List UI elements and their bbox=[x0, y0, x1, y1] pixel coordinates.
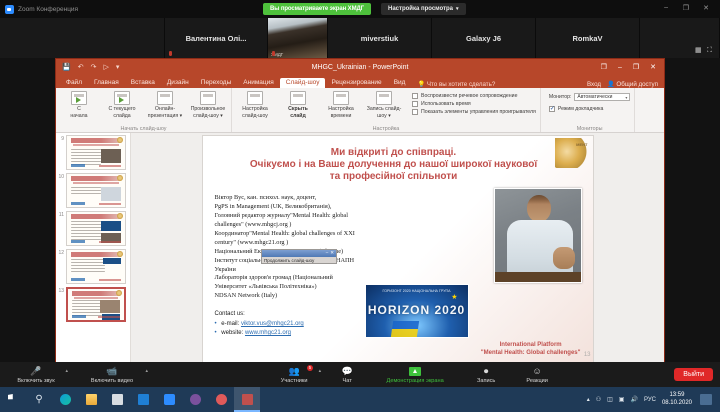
bio-line: Віктор Вус, кан. психол. наук, доцент, bbox=[215, 194, 425, 203]
save-icon[interactable]: 💾 bbox=[62, 64, 71, 71]
control-label: Реакции bbox=[526, 378, 548, 384]
clock-time: 13:59 bbox=[662, 392, 692, 400]
thumbnail-row[interactable]: 11 bbox=[58, 211, 128, 246]
btn-line1: Произвольное bbox=[191, 106, 226, 112]
timer-icon bbox=[333, 91, 349, 105]
powerpoint-title-bar: 💾 ↶ ↷ ▷ ▾ MHGC_Ukrainian - PowerPoint ❐ … bbox=[56, 59, 664, 75]
checkbox-icon bbox=[549, 106, 555, 112]
chevron-down-icon: ▾ bbox=[456, 6, 459, 12]
ribbon-group-label: Начать слайд-шоу bbox=[121, 126, 167, 133]
bio-line: України bbox=[215, 266, 425, 275]
share-screen-icon bbox=[409, 366, 421, 377]
powerpoint-body: 9 10 11 bbox=[56, 133, 664, 367]
sign-in-button[interactable]: Вход bbox=[587, 81, 601, 88]
btn-line1: Настройка bbox=[328, 106, 354, 112]
leave-meeting-button[interactable]: Выйти bbox=[674, 368, 713, 381]
ribbon: Сначала С текущегослайда Онлайн-презента… bbox=[56, 88, 664, 133]
slide-thumbnail[interactable] bbox=[66, 249, 126, 284]
btn-line1: Скрыть bbox=[288, 106, 308, 112]
bio-line: Координатор"Mental Health: global challe… bbox=[215, 230, 425, 239]
participant-name: RomkaV bbox=[572, 34, 602, 43]
bio-line: PgPS in Management (UK, Великобританія), bbox=[215, 203, 425, 212]
mic-off-icon: 🎤 bbox=[30, 366, 41, 377]
record-slideshow-button[interactable]: Запись слайд-шоу ▾ bbox=[365, 91, 403, 119]
participant-filmstrip: Валентина Олі... ХМДГ miverstiuk Galaxy … bbox=[0, 18, 720, 58]
volume-icon[interactable]: 🔊 bbox=[630, 396, 637, 403]
contact-label: e-mail: bbox=[221, 321, 239, 327]
thumbnail-number: 11 bbox=[58, 211, 66, 218]
participant-tile[interactable]: miverstiuk bbox=[328, 18, 432, 58]
tab-file[interactable]: Файл bbox=[60, 78, 88, 88]
from-current-slide-button[interactable]: С текущегослайда bbox=[103, 91, 141, 119]
participant-tile[interactable]: RomkaV bbox=[536, 18, 640, 58]
zoom-control-bar: 🎤 Включить звук ▴ 📹 Включить видео ▴ 👥 У… bbox=[0, 362, 720, 387]
people-icon: 👥 bbox=[289, 366, 300, 377]
customize-toolbar-icon[interactable]: ▾ bbox=[116, 64, 120, 71]
tab-animations[interactable]: Анимация bbox=[237, 78, 280, 88]
thumbnail-number: 9 bbox=[58, 135, 66, 142]
checkbox-label: Показать элементы управления проигрывате… bbox=[421, 109, 536, 115]
horizon-2020-image: ГОРИЗОНТ 2020 НАЦІОНАЛЬНА ГРУПА HORIZON … bbox=[365, 284, 469, 338]
reactions-icon: ☺ bbox=[533, 366, 542, 377]
email-link[interactable]: viktor.vus@mhgc21.org bbox=[241, 321, 304, 327]
viber-icon[interactable] bbox=[182, 387, 208, 412]
redo-icon[interactable]: ↷ bbox=[91, 64, 97, 71]
slide-canvas-area: MENT Ми відкриті до співпраці. Очікуємо … bbox=[131, 133, 664, 367]
star-icon: ★ bbox=[451, 293, 457, 301]
tell-me-label: Что вы хотите сделать? bbox=[427, 81, 495, 88]
slide-thumbnail[interactable] bbox=[66, 173, 126, 208]
zoom-top-bar: Zoom Конференция Вы просматриваете экран… bbox=[0, 0, 720, 18]
btn-line1: Запись слайд- bbox=[367, 106, 402, 112]
fullscreen-icon[interactable]: ⛶ bbox=[707, 47, 715, 55]
system-tray: ▴ ⚇ ◫ ▣ 🔊 РУС 13:59 08.10.2020 bbox=[587, 392, 720, 407]
emblem-text: MENT bbox=[576, 143, 587, 147]
record-icon: ⏺ bbox=[484, 366, 489, 377]
setup-slideshow-icon bbox=[247, 91, 263, 105]
slide-title: Ми відкриті до співпраці. Очікуємо і на … bbox=[223, 147, 565, 184]
footer-line1: International Platform bbox=[481, 342, 581, 350]
footer-line2: "Mental Health: Global challenges" bbox=[481, 350, 581, 358]
resume-slideshow-toolbar[interactable]: – ✕ Продолжить слайд-шоу bbox=[261, 249, 337, 264]
tab-design[interactable]: Дизайн bbox=[161, 78, 195, 88]
powerpoint-window-buttons: ❐ – ❐ ✕ bbox=[601, 63, 664, 71]
usb-icon[interactable]: ⚇ bbox=[596, 396, 601, 403]
toolbar-body[interactable]: Продолжить слайд-шоу bbox=[262, 257, 336, 263]
participant-name: Galaxy J6 bbox=[466, 34, 501, 43]
slide-title-line2: Очікуємо і на Ваше долучення до нашої ши… bbox=[223, 159, 565, 171]
restore-icon[interactable]: ❐ bbox=[633, 63, 639, 71]
checkbox-label: Воспроизвести речевое сопровождение bbox=[421, 93, 517, 99]
clock[interactable]: 13:59 08.10.2020 bbox=[662, 392, 692, 407]
monitor-label: Монитор: bbox=[549, 94, 572, 100]
thumbnail-row[interactable]: 10 bbox=[58, 173, 128, 208]
resume-slideshow-label: Продолжить слайд-шоу bbox=[264, 258, 314, 263]
participant-tile[interactable]: Валентина Олі... bbox=[165, 18, 268, 58]
start-video-button[interactable]: 📹 Включить видео ▴ bbox=[72, 366, 152, 384]
control-label: Запись bbox=[477, 378, 495, 384]
show-media-controls-checkbox[interactable]: Показать элементы управления проигрывате… bbox=[412, 109, 536, 115]
horizon-main-text: HORIZON 2020 bbox=[366, 303, 468, 317]
control-label: Демонстрация экрана bbox=[387, 378, 444, 384]
gallery-view-icon[interactable]: ▦ bbox=[695, 47, 703, 55]
slide-title-line1: Ми відкриті до співпраці. bbox=[223, 147, 565, 159]
start-icon[interactable] bbox=[0, 387, 26, 412]
btn-line2: времени bbox=[331, 113, 352, 119]
slide-number: 13 bbox=[584, 352, 591, 358]
video-off-icon: 📹 bbox=[106, 366, 117, 377]
btn-line2: слайд-шоу ▾ bbox=[193, 113, 223, 119]
toolbar-title-bar: – ✕ bbox=[262, 250, 336, 257]
btn-line2: начала bbox=[70, 113, 87, 119]
participant-tile-empty-right[interactable]: ▦ ⛶ bbox=[640, 18, 720, 58]
presenter-photo bbox=[494, 188, 582, 283]
control-label: Чат bbox=[343, 378, 352, 384]
bio-line: challenges" (www.mhgcj.org ) bbox=[215, 221, 425, 230]
view-options-label: Настройка просмотра bbox=[388, 6, 453, 12]
account-area: Вход 👤 Общий доступ bbox=[587, 80, 664, 88]
checkbox-icon bbox=[412, 109, 418, 115]
search-icon[interactable]: ⚲ bbox=[26, 387, 52, 412]
quick-access-toolbar: 💾 ↶ ↷ ▷ ▾ bbox=[56, 64, 119, 71]
use-timings-checkbox[interactable]: Использовать время bbox=[412, 101, 536, 107]
control-label: Включить видео bbox=[91, 378, 133, 384]
maximize-icon[interactable]: ❐ bbox=[683, 4, 689, 12]
explorer-icon[interactable] bbox=[78, 387, 104, 412]
slide-title-line3: та професійної спільноти bbox=[223, 171, 565, 183]
ribbon-display-options-icon[interactable]: ❐ bbox=[601, 63, 607, 71]
share-screen-button[interactable]: Демонстрация экрана bbox=[369, 366, 461, 384]
show-hidden-icons[interactable]: ▴ bbox=[587, 396, 590, 403]
participant-tile[interactable]: Galaxy J6 bbox=[432, 18, 536, 58]
monitor-select-row[interactable]: Монитор: Автоматически bbox=[549, 93, 631, 101]
filmstrip-view-controls: ▦ ⛶ bbox=[695, 47, 715, 55]
checkbox-icon bbox=[412, 93, 418, 99]
participants-count-badge: 5 bbox=[307, 365, 314, 371]
slide-thumbnail-selected[interactable] bbox=[66, 287, 126, 322]
tab-slideshow[interactable]: Слайд-шоу bbox=[280, 78, 326, 88]
network-icon[interactable]: ◫ bbox=[607, 396, 613, 403]
minimize-icon[interactable]: – bbox=[664, 4, 668, 11]
btn-line2: презентация ▾ bbox=[148, 113, 182, 119]
website-link[interactable]: www.mhgc21.org bbox=[245, 330, 291, 336]
language-indicator[interactable]: РУС bbox=[644, 397, 656, 403]
ribbon-group-monitors: Монитор: Автоматически Режим докладчика … bbox=[541, 88, 636, 133]
slide-thumbnail[interactable] bbox=[66, 135, 126, 170]
thumbnail-number: 13 bbox=[58, 287, 66, 294]
setup-slideshow-button[interactable]: Настройкаслайд-шоу bbox=[236, 91, 274, 119]
ribbon-tab-bar: Файл Главная Вставка Дизайн Переходы Ани… bbox=[56, 75, 664, 88]
participants-button[interactable]: 👥 Участники 5 ▴ bbox=[263, 366, 325, 384]
checkbox-label: Режим докладчика bbox=[558, 106, 603, 112]
record-button[interactable]: ⏺ Запись bbox=[461, 366, 511, 384]
chat-icon: 💬 bbox=[342, 366, 353, 377]
reactions-button[interactable]: ☺ Реакции bbox=[511, 366, 563, 384]
presenter-mode-checkbox[interactable]: Режим докладчика bbox=[549, 106, 603, 112]
slide-thumbnail[interactable] bbox=[66, 211, 126, 246]
btn-line2: шоу ▾ bbox=[377, 113, 391, 119]
undo-icon[interactable]: ↶ bbox=[78, 64, 84, 71]
chevron-up-icon[interactable]: ▴ bbox=[319, 368, 322, 374]
tab-view[interactable]: Вид bbox=[388, 78, 412, 88]
from-beginning-button[interactable]: Сначала bbox=[60, 91, 98, 119]
rehearse-timings-button[interactable]: Настройкавремени bbox=[322, 91, 360, 119]
powerpoint-icon[interactable] bbox=[234, 387, 260, 412]
ribbon-group-label: Мониторы bbox=[577, 126, 603, 133]
hide-slide-button[interactable]: Скрытьслайд bbox=[279, 91, 317, 119]
control-label: Участники bbox=[281, 378, 308, 384]
thumbnail-number: 10 bbox=[58, 173, 66, 180]
play-from-start-icon bbox=[71, 91, 87, 105]
btn-line2: слайда bbox=[113, 113, 130, 119]
play-from-current-icon bbox=[114, 91, 130, 105]
powerpoint-window: 💾 ↶ ↷ ▷ ▾ MHGC_Ukrainian - PowerPoint ❐ … bbox=[55, 58, 665, 368]
document-title: MHGC_Ukrainian - PowerPoint bbox=[56, 64, 664, 71]
btn-line1: С текущего bbox=[108, 106, 135, 112]
monitor-select[interactable]: Автоматически bbox=[574, 93, 630, 101]
thumbnail-number: 12 bbox=[58, 249, 66, 256]
mic-muted-icon bbox=[272, 51, 275, 56]
share-button[interactable]: 👤 Общий доступ bbox=[607, 80, 658, 88]
thumbnail-row[interactable]: 9 bbox=[58, 135, 128, 170]
windows-taskbar: ⚲ ▴ ⚇ ◫ ▣ 🔊 РУС 13:59 08.10.2020 bbox=[0, 387, 720, 412]
ribbon-group-setup: Настройкаслайд-шоу Скрытьслайд Настройка… bbox=[232, 88, 541, 133]
thumbnail-row[interactable]: 12 bbox=[58, 249, 128, 284]
edge-icon[interactable] bbox=[52, 387, 78, 412]
screen-share-banner: Вы просматриваете экран ХМДГ bbox=[263, 3, 371, 15]
hide-slide-icon bbox=[290, 91, 306, 105]
start-slideshow-icon[interactable]: ▷ bbox=[103, 64, 108, 71]
tab-transitions[interactable]: Переходы bbox=[195, 78, 238, 88]
zoom-logo-icon bbox=[5, 5, 14, 14]
zoom-window-title: Zoom Конференция bbox=[18, 6, 78, 13]
participant-name: miverstiuk bbox=[361, 34, 399, 43]
participant-tile-empty-left[interactable] bbox=[0, 18, 165, 58]
clock-date: 08.10.2020 bbox=[662, 400, 692, 408]
lightbulb-icon: 💡 bbox=[417, 81, 425, 88]
record-icon bbox=[376, 91, 392, 105]
skype-icon[interactable] bbox=[208, 387, 234, 412]
tab-review[interactable]: Рецензирование bbox=[325, 78, 387, 88]
slide-thumbnail-pane[interactable]: 9 10 11 bbox=[56, 133, 131, 367]
minimize-icon[interactable]: – bbox=[326, 251, 329, 256]
close-icon[interactable]: ✕ bbox=[703, 4, 709, 12]
mic-muted-icon bbox=[169, 51, 172, 56]
btn-line1: Настройка bbox=[242, 106, 268, 112]
participant-tile-video[interactable]: ХМДГ bbox=[268, 18, 328, 58]
tab-home[interactable]: Главная bbox=[88, 78, 125, 88]
tab-insert[interactable]: Вставка bbox=[125, 78, 161, 88]
custom-slideshow-icon bbox=[200, 91, 216, 105]
screen-root: Zoom Конференция Вы просматриваете экран… bbox=[0, 0, 720, 412]
btn-line1: С bbox=[77, 106, 81, 112]
contact-label: website: bbox=[221, 330, 243, 336]
chevron-up-icon[interactable]: ▴ bbox=[145, 368, 148, 374]
close-icon[interactable]: ✕ bbox=[650, 63, 656, 71]
display-icon[interactable]: ▣ bbox=[619, 396, 625, 403]
custom-slideshow-button[interactable]: Произвольноеслайд-шоу ▾ bbox=[189, 91, 227, 119]
thumbnail-row[interactable]: 13 bbox=[58, 287, 128, 322]
minimize-icon[interactable]: – bbox=[618, 64, 622, 71]
view-options-button[interactable]: Настройка просмотра ▾ bbox=[381, 3, 466, 15]
play-narrations-checkbox[interactable]: Воспроизвести речевое сопровождение bbox=[412, 93, 536, 99]
bio-line: Головний редактор журналу"Mental Health:… bbox=[215, 212, 425, 221]
chat-button[interactable]: 💬 Чат bbox=[325, 366, 369, 384]
participant-name: Валентина Олі... bbox=[186, 34, 247, 43]
present-online-icon bbox=[157, 91, 173, 105]
mail-icon[interactable] bbox=[130, 387, 156, 412]
ribbon-group-label: Настройка bbox=[373, 126, 400, 133]
zoom-icon[interactable] bbox=[156, 387, 182, 412]
checkbox-label: Использовать время bbox=[421, 101, 471, 107]
close-icon[interactable]: ✕ bbox=[330, 251, 334, 256]
btn-line1: Онлайн- bbox=[155, 106, 175, 112]
bio-line: Лабораторія здоров'я громад (Національни… bbox=[215, 274, 425, 283]
slide-footer: International Platform "Mental Health: G… bbox=[481, 342, 581, 358]
ribbon-group-start-slideshow: Сначала С текущегослайда Онлайн-презента… bbox=[56, 88, 232, 133]
chevron-up-icon[interactable]: ▴ bbox=[65, 368, 68, 374]
share-label: Общий доступ bbox=[616, 81, 658, 88]
checkbox-icon bbox=[412, 101, 418, 107]
btn-line2: слайд bbox=[290, 113, 306, 119]
control-label: Включить звук bbox=[17, 378, 54, 384]
btn-line2: слайд-шоу bbox=[242, 113, 268, 119]
tell-me-search[interactable]: 💡 Что вы хотите сделать? bbox=[411, 80, 495, 88]
unmute-button[interactable]: 🎤 Включить звук ▴ bbox=[0, 366, 72, 384]
store-icon[interactable] bbox=[104, 387, 130, 412]
action-center-icon[interactable] bbox=[700, 394, 712, 405]
present-online-button[interactable]: Онлайн-презентация ▾ bbox=[146, 91, 184, 119]
bio-line: century" (www.mhgc21.org ) bbox=[215, 239, 425, 248]
